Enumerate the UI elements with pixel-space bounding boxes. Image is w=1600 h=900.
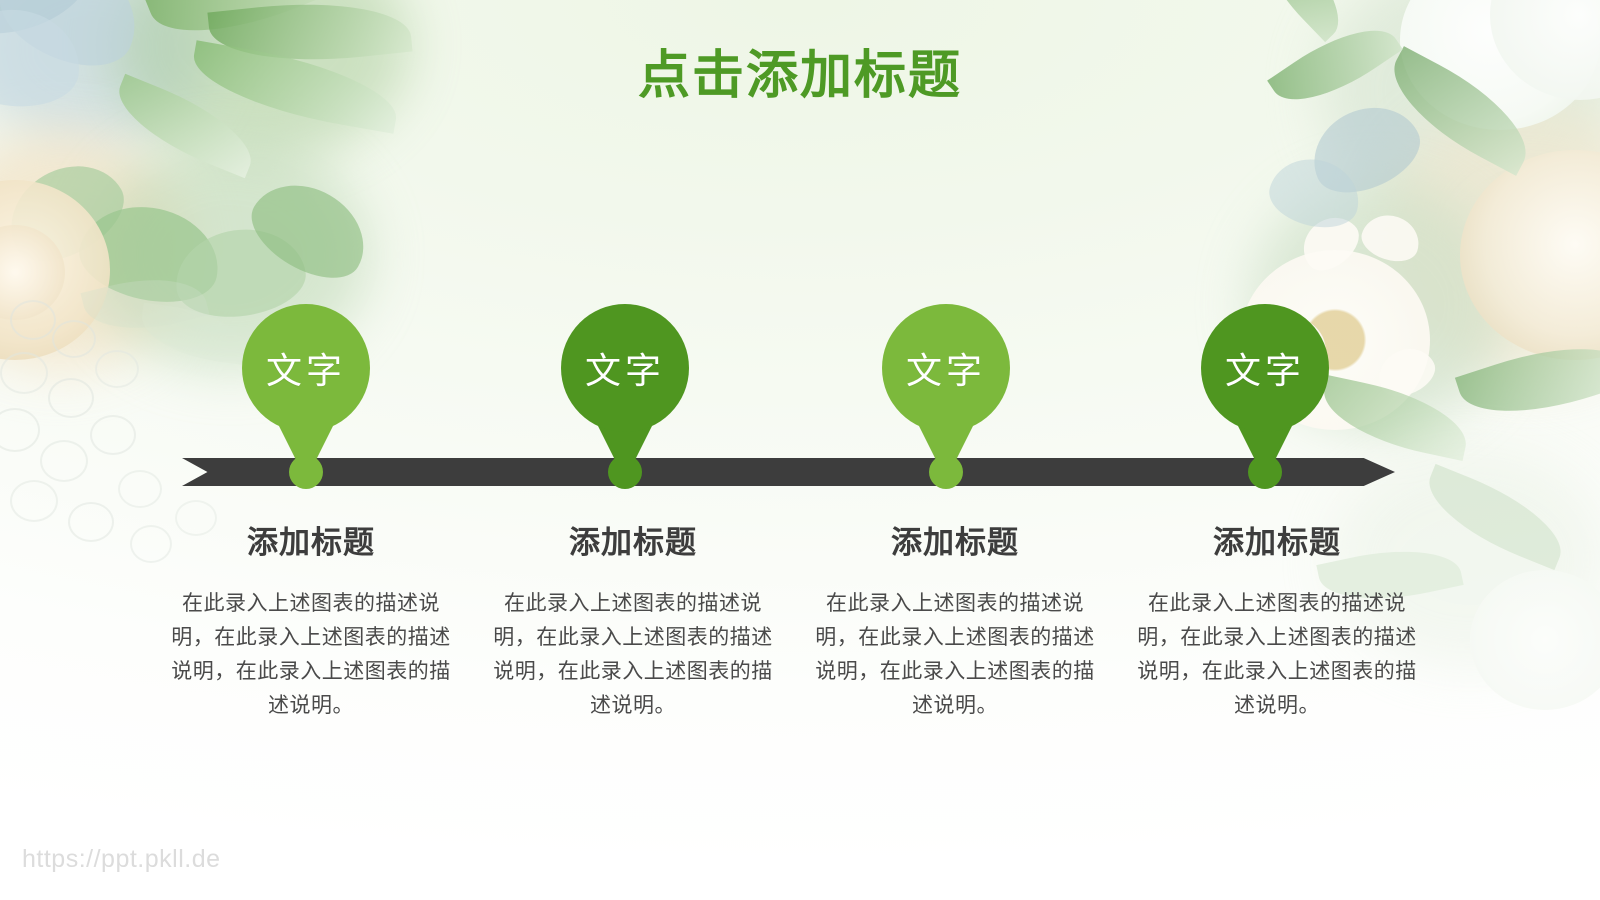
column-title-3: 添加标题	[810, 524, 1100, 561]
slide-canvas: 点击添加标题 文字 文字 文字 文字	[0, 0, 1600, 900]
column-2: 添加标题 在此录入上述图表的描述说明，在此录入上述图表的描述说明，在此录入上述图…	[472, 524, 794, 723]
column-title-1: 添加标题	[166, 524, 456, 561]
pin-label-4: 文字	[1201, 304, 1329, 432]
column-body-1: 在此录入上述图表的描述说明，在此录入上述图表的描述说明，在此录入上述图表的描述说…	[166, 587, 456, 723]
column-4: 添加标题 在此录入上述图表的描述说明，在此录入上述图表的描述说明，在此录入上述图…	[1116, 524, 1438, 723]
pin-marker-1[interactable]: 文字	[242, 304, 370, 472]
pin-marker-4[interactable]: 文字	[1201, 304, 1329, 472]
column-body-3: 在此录入上述图表的描述说明，在此录入上述图表的描述说明，在此录入上述图表的描述说…	[810, 587, 1100, 723]
pin-label-1: 文字	[242, 304, 370, 432]
pin-label-3: 文字	[882, 304, 1010, 432]
content-columns: 添加标题 在此录入上述图表的描述说明，在此录入上述图表的描述说明，在此录入上述图…	[150, 524, 1440, 723]
page-title: 点击添加标题	[0, 48, 1600, 105]
pin-marker-2[interactable]: 文字	[561, 304, 689, 472]
watermark: https://ppt.pkll.de	[22, 845, 221, 874]
column-1: 添加标题 在此录入上述图表的描述说明，在此录入上述图表的描述说明，在此录入上述图…	[150, 524, 472, 723]
column-body-4: 在此录入上述图表的描述说明，在此录入上述图表的描述说明，在此录入上述图表的描述说…	[1132, 587, 1422, 723]
pin-label-2: 文字	[561, 304, 689, 432]
pin-marker-3[interactable]: 文字	[882, 304, 1010, 472]
column-body-2: 在此录入上述图表的描述说明，在此录入上述图表的描述说明，在此录入上述图表的描述说…	[488, 587, 778, 723]
column-title-2: 添加标题	[488, 524, 778, 561]
column-title-4: 添加标题	[1132, 524, 1422, 561]
column-3: 添加标题 在此录入上述图表的描述说明，在此录入上述图表的描述说明，在此录入上述图…	[794, 524, 1116, 723]
